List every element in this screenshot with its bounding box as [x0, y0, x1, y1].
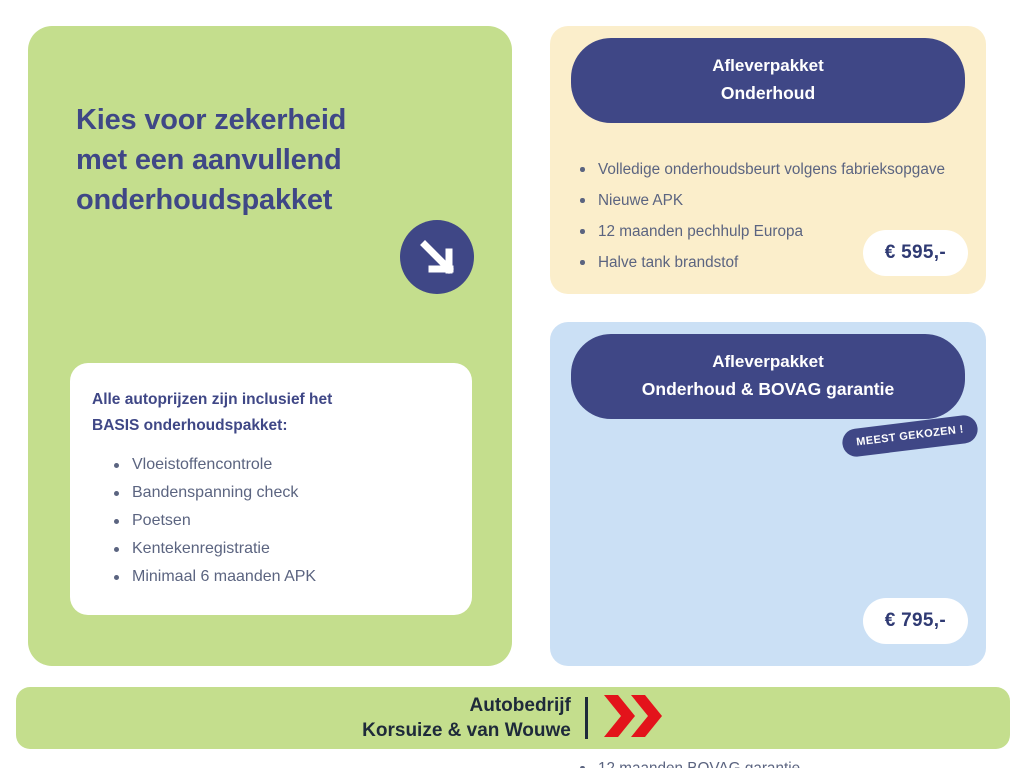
- basis-title-line-1: Alle autoprijzen zijn inclusief het: [92, 387, 422, 413]
- vertical-divider: [585, 697, 588, 739]
- basis-title-line-2: BASIS onderhoudspakket:: [92, 413, 422, 439]
- brand-line-2: Korsuize & van Wouwe: [362, 718, 571, 743]
- arrow-down-right-icon: [400, 220, 474, 294]
- package-header: Afleverpakket Onderhoud: [571, 38, 965, 123]
- package-header-line-1: Afleverpakket: [581, 52, 955, 79]
- list-item: Vloeistoffencontrole: [108, 451, 438, 479]
- headline-line-3: onderhoudspakket: [76, 180, 436, 220]
- list-item: Kentekenregistratie: [108, 535, 438, 563]
- basis-package-card: Alle autoprijzen zijn inclusief het BASI…: [70, 363, 472, 615]
- list-item: Minimaal 6 maanden APK: [108, 563, 438, 591]
- footer-content: Autobedrijf Korsuize & van Wouwe: [16, 687, 1010, 749]
- basis-package-title: Alle autoprijzen zijn inclusief het BASI…: [92, 387, 422, 438]
- package-header-line-2: Onderhoud: [581, 79, 955, 107]
- price-badge: € 795,-: [863, 598, 968, 644]
- list-item: Nieuwe APK: [572, 185, 972, 216]
- headline-line-1: Kies voor zekerheid: [76, 100, 436, 140]
- package-card-onderhoud-bovag: Afleverpakket Onderhoud & BOVAG garantie…: [550, 322, 986, 666]
- package-header: Afleverpakket Onderhoud & BOVAG garantie: [571, 334, 965, 419]
- package-header-line-1: Afleverpakket: [581, 348, 955, 375]
- headline-line-2: met een aanvullend: [76, 140, 436, 180]
- double-chevron-right-icon: [602, 693, 664, 744]
- poster-canvas: Kies voor zekerheid met een aanvullend o…: [0, 0, 1024, 768]
- package-header-line-2: Onderhoud & BOVAG garantie: [581, 375, 955, 403]
- list-item: Poetsen: [108, 507, 438, 535]
- price-badge: € 595,-: [863, 230, 968, 276]
- brand-name: Autobedrijf Korsuize & van Wouwe: [362, 693, 571, 743]
- list-item: 12 maanden BOVAG garantie: [572, 753, 972, 768]
- list-item: Volledige onderhoudsbeurt volgens fabrie…: [572, 154, 972, 185]
- list-item: Bandenspanning check: [108, 479, 438, 507]
- footer-bar: Autobedrijf Korsuize & van Wouwe: [16, 687, 1010, 749]
- package-card-onderhoud: Afleverpakket Onderhoud Volledige onderh…: [550, 26, 986, 294]
- status-badge: MEEST GEKOZEN !: [841, 414, 979, 458]
- package-feature-list: 12 maanden BOVAG garantie Volledige onde…: [572, 753, 972, 768]
- hero-panel: Kies voor zekerheid met een aanvullend o…: [28, 26, 512, 666]
- basis-package-list: Vloeistoffencontrole Bandenspanning chec…: [108, 451, 438, 591]
- brand-line-1: Autobedrijf: [362, 693, 571, 718]
- page-title: Kies voor zekerheid met een aanvullend o…: [76, 100, 436, 220]
